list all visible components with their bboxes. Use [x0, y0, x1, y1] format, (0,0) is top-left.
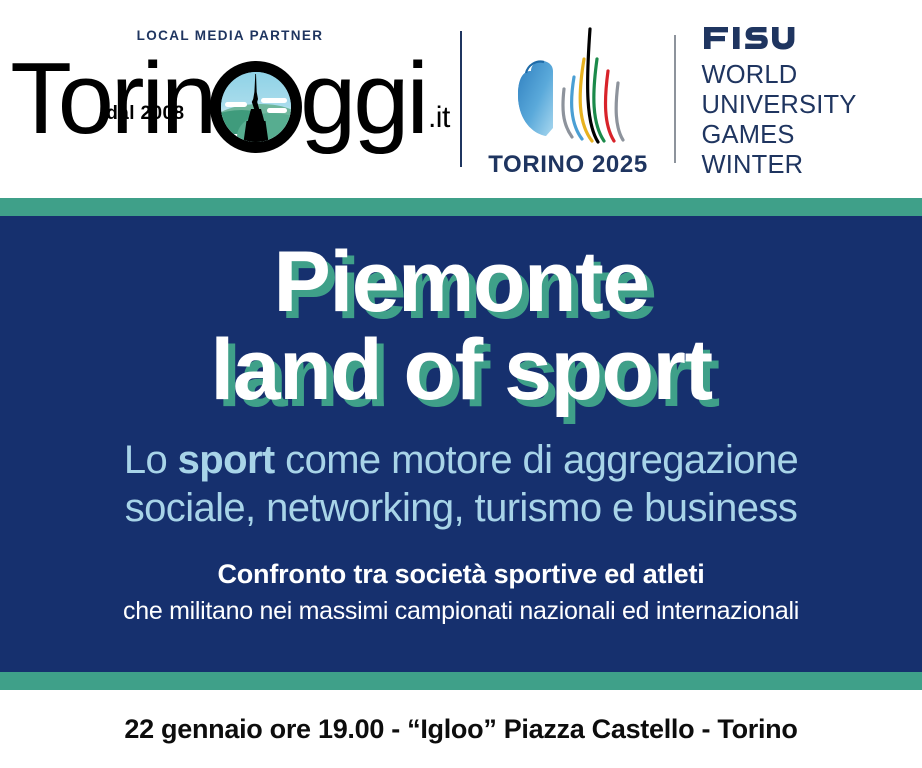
mole-tower-silhouette-icon [221, 72, 291, 142]
subtitle: Lo sport come motore di aggregazione soc… [108, 436, 814, 532]
fisu-line-winter: WINTER [702, 150, 922, 180]
tagline-bold: Confronto tra società sportive ed atleti [217, 558, 704, 590]
promotional-poster: LOCAL MEDIA PARTNER Torin [0, 0, 922, 768]
bottom-green-band [0, 672, 922, 690]
fisu-logo-block: WORLD UNIVERSITY GAMES WINTER [676, 0, 922, 198]
mole-antonelliana-circle-icon [210, 61, 302, 153]
torino-2025-block: TORINO 2025 [462, 0, 674, 198]
mole-circle-inner [221, 72, 291, 142]
fisu-wordmark-icon [702, 23, 832, 53]
headline-line-2: land of sport [210, 326, 711, 414]
torinoggi-wordmark: Torin [10, 47, 426, 151]
torino-2025-u-emblem-icon [498, 25, 638, 147]
torinoggi-name-part2: ggi [300, 47, 426, 151]
fisu-line-games: GAMES [702, 120, 922, 150]
headline-line-1: Piemonte [210, 238, 711, 326]
event-details-text: 22 gennaio ore 19.00 - “Igloo” Piazza Ca… [124, 714, 797, 745]
main-content-panel: Piemonte land of sport Lo sport come mot… [0, 216, 922, 672]
fisu-line-university: UNIVERSITY [702, 90, 922, 120]
local-media-partner-label: LOCAL MEDIA PARTNER [137, 28, 324, 43]
tagline-regular: che militano nei massimi campionati nazi… [123, 596, 799, 626]
torinoggi-established-label: dal 2008 [106, 103, 184, 125]
torinoggi-logo: Torin [10, 47, 450, 157]
footer-bar: 22 gennaio ore 19.00 - “Igloo” Piazza Ca… [0, 690, 922, 768]
top-green-band [0, 198, 922, 216]
fisu-line-world: WORLD [702, 60, 922, 90]
subtitle-line-2: sociale, networking, turismo e business [124, 484, 798, 532]
subtitle-text-pre: Lo [124, 438, 178, 482]
headline: Piemonte land of sport [190, 238, 731, 414]
subtitle-line-1: Lo sport come motore di aggregazione [124, 436, 798, 484]
media-partner-block: LOCAL MEDIA PARTNER Torin [0, 0, 460, 198]
torinoggi-name-part1: Torin [10, 47, 214, 151]
subtitle-text-bold: sport [178, 438, 275, 482]
torino-2025-caption: TORINO 2025 [488, 151, 648, 179]
torinoggi-domain-suffix: .it [428, 101, 450, 135]
subtitle-text-post: come motore di aggregazione [275, 438, 799, 482]
header-logos-bar: LOCAL MEDIA PARTNER Torin [0, 0, 922, 198]
